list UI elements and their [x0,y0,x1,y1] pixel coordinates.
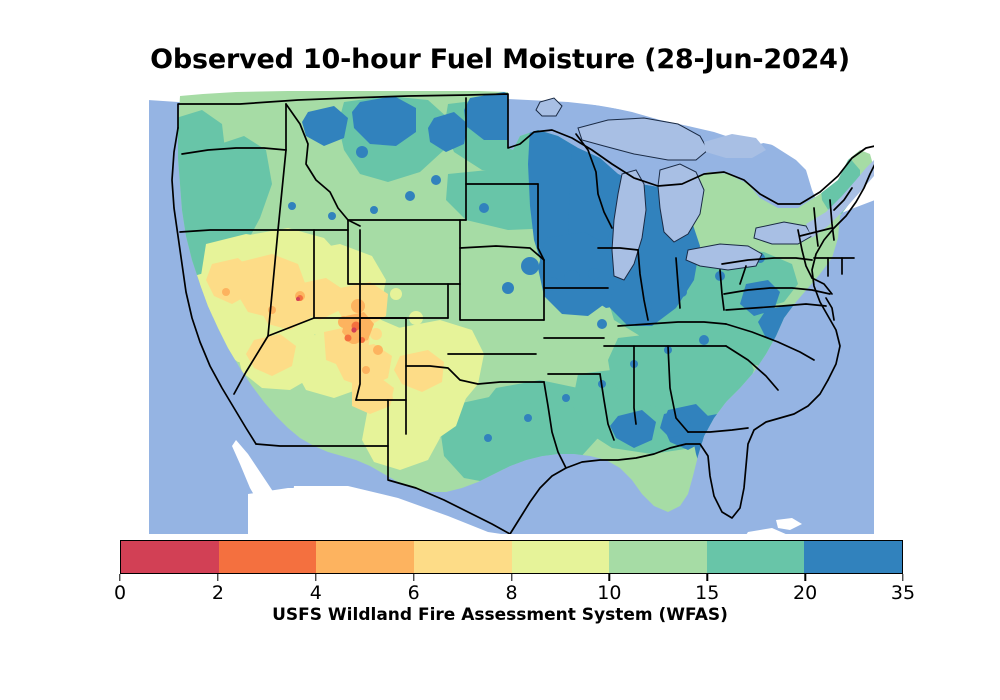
colorbar-tick-6 [413,574,414,581]
colorbar-tick-8 [511,574,512,581]
colorbar-band-0-2[interactable] [121,541,219,573]
colorbar-bands[interactable] [120,540,903,574]
colorbar-tick-label-0: 0 [114,582,126,604]
colorbar-band-8-10[interactable] [512,541,610,573]
colorbar-band-4-6[interactable] [316,541,414,573]
colorbar-band-2-4[interactable] [219,541,317,573]
colorbar-tick-label-15: 15 [695,582,719,604]
colorbar-tick-label-20: 20 [793,582,817,604]
colorbar-band-15-20[interactable] [707,541,805,573]
colorbar-tick-label-6: 6 [408,582,420,604]
colorbar-tick-10 [609,574,610,581]
colorbar-tick-2 [217,574,218,581]
colorbar-band-20-35[interactable] [804,541,902,573]
colorbar-ticks [120,574,903,582]
colorbar-tick-label-2: 2 [212,582,224,604]
page-title: Observed 10-hour Fuel Moisture (28-Jun-2… [0,44,1000,75]
colorbar-band-6-8[interactable] [414,541,512,573]
colorbar-tick-35 [902,574,903,581]
colorbar-tick-label-10: 10 [597,582,621,604]
colorbar-tick-4 [315,574,316,581]
colorbar-tick-20 [804,574,805,581]
colorbar-band-10-15[interactable] [609,541,707,573]
colorbar-tick-label-4: 4 [310,582,322,604]
colorbar-caption: USFS Wildland Fire Assessment System (WF… [0,605,1000,625]
colorbar-tick-15 [707,574,708,581]
colorbar[interactable]: 0246810152035 [120,540,903,608]
colorbar-tick-0 [119,574,120,581]
figure-canvas: Observed 10-hour Fuel Moisture (28-Jun-2… [0,0,1000,700]
colorbar-tick-label-35: 35 [891,582,915,604]
colorbar-tick-label-8: 8 [505,582,517,604]
map-panel[interactable] [148,88,875,535]
fuel-moisture-map[interactable] [148,88,875,535]
